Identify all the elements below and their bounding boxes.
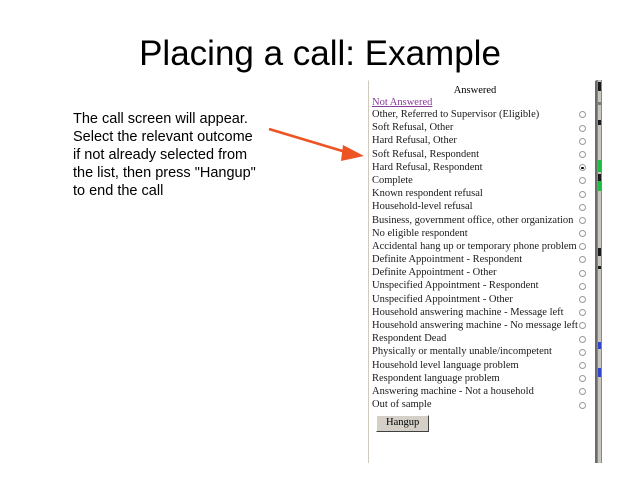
outcome-option-row[interactable]: Physically or mentally unable/incompeten…	[369, 345, 595, 358]
outcome-option-label: Household answering machine - No message…	[372, 320, 578, 331]
hangup-button[interactable]: Hangup	[376, 415, 429, 432]
not-answered-link[interactable]: Not Answered	[372, 97, 432, 108]
outcome-radio-button[interactable]	[579, 138, 586, 145]
adjacent-window-sliver	[597, 80, 602, 463]
outcome-option-row[interactable]: Soft Refusal, Respondent	[369, 148, 595, 161]
instruction-line: The call screen will appear.	[73, 110, 283, 128]
sliver-mark	[598, 342, 601, 349]
outcome-option-label: Out of sample	[372, 399, 432, 410]
outcome-radio-button[interactable]	[579, 164, 586, 171]
outcome-option-label: Respondent Dead	[372, 333, 446, 344]
outcome-option-label: Other, Referred to Supervisor (Eligible)	[372, 109, 539, 120]
outcome-option-label: Soft Refusal, Other	[372, 122, 453, 133]
outcome-radio-button[interactable]	[579, 362, 586, 369]
outcome-radio-button[interactable]	[579, 151, 586, 158]
outcome-radio-button[interactable]	[579, 309, 586, 316]
outcome-option-row[interactable]: Known respondent refusal	[369, 187, 595, 200]
outcome-option-label: Accidental hang up or temporary phone pr…	[372, 241, 577, 252]
outcome-radio-button[interactable]	[579, 388, 586, 395]
sliver-mark	[598, 174, 601, 181]
outcome-option-row[interactable]: Household answering machine - No message…	[369, 319, 595, 332]
outcome-radio-button[interactable]	[579, 270, 586, 277]
outcome-option-row[interactable]: Household-level refusal	[369, 200, 595, 213]
outcome-option-label: Hard Refusal, Respondent	[372, 162, 483, 173]
outcome-option-row[interactable]: Accidental hang up or temporary phone pr…	[369, 240, 595, 253]
outcome-option-row[interactable]: Out of sample	[369, 398, 595, 411]
outcome-option-row[interactable]: Household level language problem	[369, 359, 595, 372]
outcome-option-label: Respondent language problem	[372, 373, 500, 384]
instruction-line: if not already selected from	[73, 146, 283, 164]
outcome-option-label: Known respondent refusal	[372, 188, 483, 199]
outcome-option-row[interactable]: Unspecified Appointment - Other	[369, 293, 595, 306]
outcome-option-row[interactable]: Hard Refusal, Respondent	[369, 161, 595, 174]
outcome-option-label: Physically or mentally unable/incompeten…	[372, 346, 552, 357]
instruction-line: Select the relevant outcome	[73, 128, 283, 146]
sliver-mark	[598, 82, 601, 91]
outcome-option-label: Soft Refusal, Respondent	[372, 149, 479, 160]
outcome-radio-button[interactable]	[579, 230, 586, 237]
outcome-radio-button[interactable]	[579, 177, 586, 184]
outcome-option-label: Unspecified Appointment - Other	[372, 294, 513, 305]
outcome-radio-button[interactable]	[579, 204, 586, 211]
outcome-option-row[interactable]: No eligible respondent	[369, 227, 595, 240]
outcome-radio-button[interactable]	[579, 191, 586, 198]
outcome-option-row[interactable]: Complete	[369, 174, 595, 187]
outcome-option-label: Household level language problem	[372, 360, 519, 371]
outcome-option-row[interactable]: Business, government office, other organ…	[369, 214, 595, 227]
outcome-radio-button[interactable]	[579, 296, 586, 303]
sliver-mark	[598, 266, 601, 269]
outcome-option-row[interactable]: Definite Appointment - Respondent	[369, 253, 595, 266]
answered-section-header: Answered	[369, 85, 595, 96]
outcome-radio-button[interactable]	[579, 322, 586, 329]
instruction-text: The call screen will appear. Select the …	[73, 110, 283, 200]
outcome-option-row[interactable]: Other, Referred to Supervisor (Eligible)	[369, 108, 595, 121]
outcome-radio-button[interactable]	[579, 402, 586, 409]
outcome-option-label: Definite Appointment - Respondent	[372, 254, 522, 265]
outcome-option-row[interactable]: Unspecified Appointment - Respondent	[369, 279, 595, 292]
sliver-mark	[598, 181, 601, 191]
outcome-option-row[interactable]: Soft Refusal, Other	[369, 121, 595, 134]
sliver-mark	[598, 368, 601, 377]
outcome-option-row[interactable]: Answering machine - Not a household	[369, 385, 595, 398]
outcome-option-row[interactable]: Definite Appointment - Other	[369, 266, 595, 279]
outcome-radio-button[interactable]	[579, 125, 586, 132]
page-title: Placing a call: Example	[0, 34, 640, 74]
outcome-option-row[interactable]: Hard Refusal, Other	[369, 134, 595, 147]
outcome-option-label: No eligible respondent	[372, 228, 468, 239]
sliver-mark	[598, 160, 601, 172]
outcome-option-label: Definite Appointment - Other	[372, 267, 497, 278]
instruction-line: to end the call	[73, 182, 283, 200]
sliver-mark	[598, 102, 601, 105]
outcome-option-row[interactable]: Respondent Dead	[369, 332, 595, 345]
outcome-option-label: Unspecified Appointment - Respondent	[372, 280, 539, 291]
sliver-mark	[598, 248, 601, 256]
call-outcome-list[interactable]: Other, Referred to Supervisor (Eligible)…	[369, 108, 595, 411]
outcome-radio-button[interactable]	[579, 349, 586, 356]
outcome-radio-button[interactable]	[579, 111, 586, 118]
outcome-option-row[interactable]: Respondent language problem	[369, 372, 595, 385]
outcome-radio-button[interactable]	[579, 375, 586, 382]
outcome-option-label: Household answering machine - Message le…	[372, 307, 564, 318]
outcome-radio-button[interactable]	[579, 243, 586, 250]
slide-canvas: Placing a call: Example The call screen …	[0, 0, 640, 480]
outcome-option-label: Business, government office, other organ…	[372, 215, 573, 226]
outcome-option-label: Household-level refusal	[372, 201, 473, 212]
outcome-radio-button[interactable]	[579, 336, 586, 343]
instruction-line: the list, then press "Hangup"	[73, 164, 283, 182]
outcome-radio-button[interactable]	[579, 217, 586, 224]
outcome-option-label: Complete	[372, 175, 413, 186]
outcome-radio-button[interactable]	[579, 283, 586, 290]
sliver-mark	[598, 120, 601, 125]
call-screen-panel: Answered Not Answered Other, Referred to…	[368, 80, 597, 463]
outcome-radio-button[interactable]	[579, 256, 586, 263]
outcome-option-row[interactable]: Household answering machine - Message le…	[369, 306, 595, 319]
outcome-option-label: Answering machine - Not a household	[372, 386, 534, 397]
outcome-option-label: Hard Refusal, Other	[372, 135, 457, 146]
